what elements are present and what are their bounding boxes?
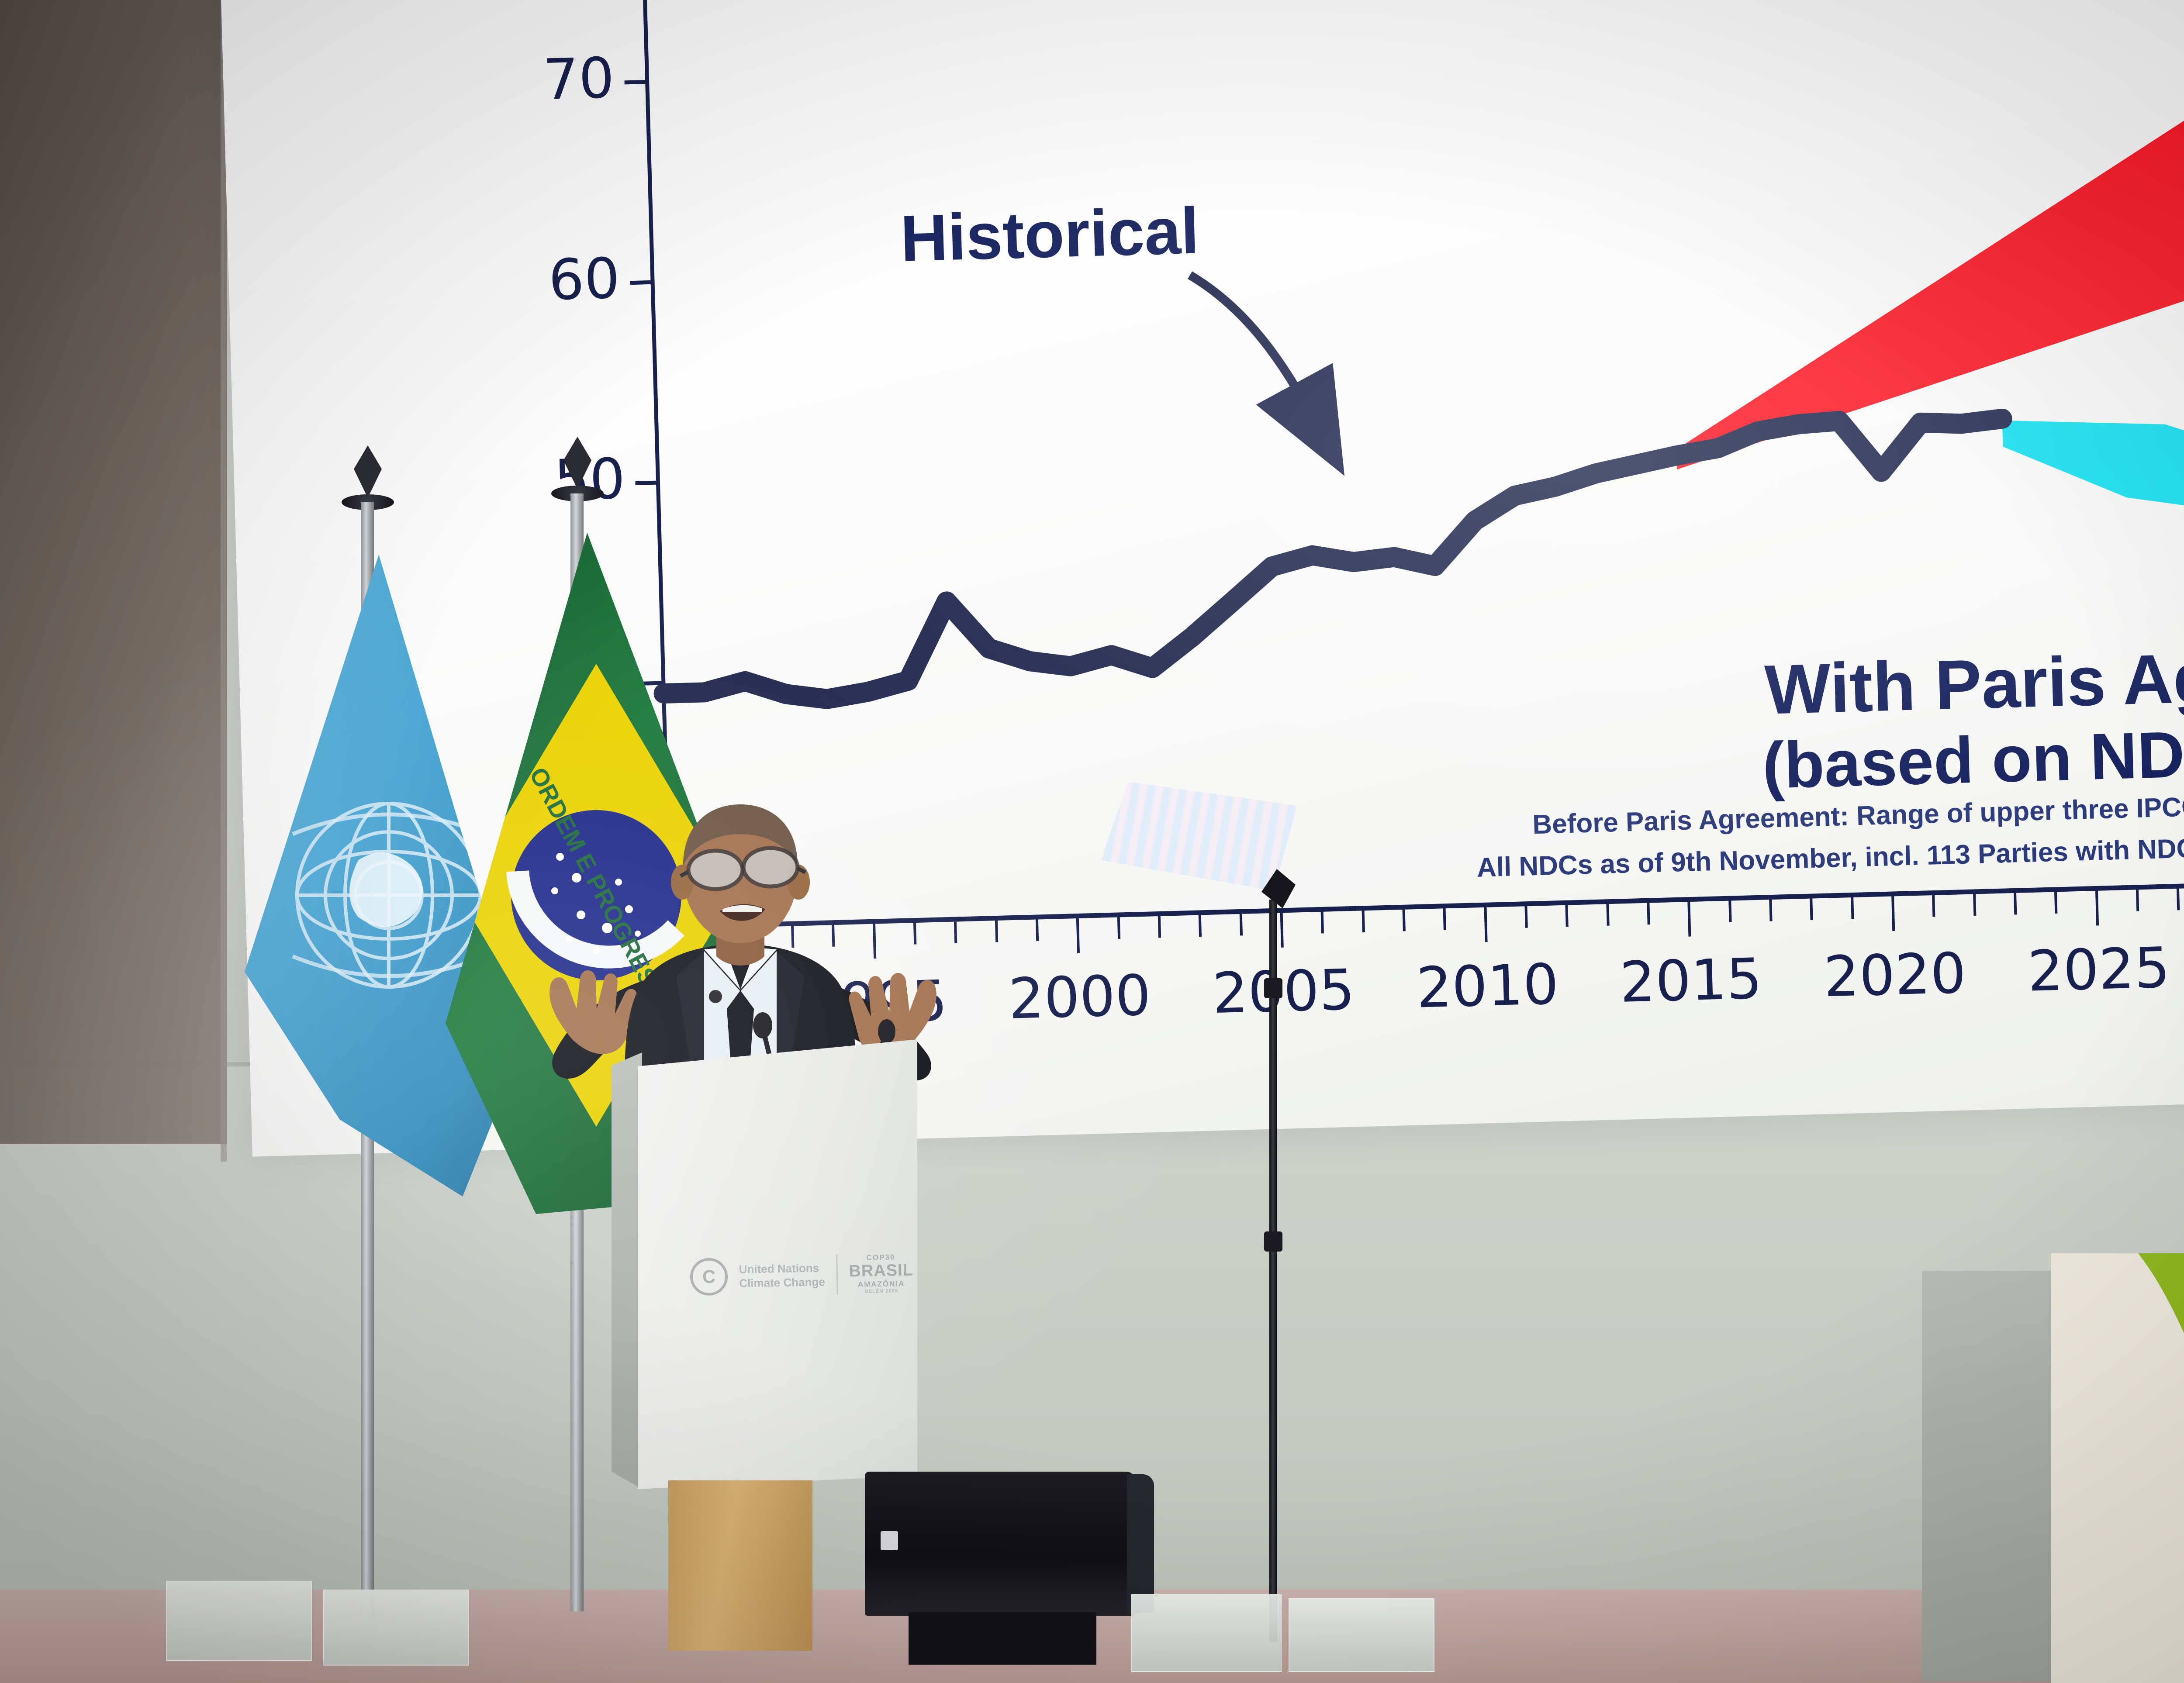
monitor-foot	[909, 1612, 1096, 1665]
monitor-side	[1127, 1474, 1154, 1613]
with-paris-label-line1: With Paris Agreement	[1764, 631, 2184, 729]
podium-logo-un-line1: United Nations	[739, 1261, 825, 1276]
y-tick-label-70: 70	[543, 46, 615, 113]
floor-mic-stand	[1258, 900, 1289, 1642]
flag-finial-icon	[354, 445, 382, 498]
x-tick-label-2000: 2000	[1008, 963, 1152, 1032]
podium-logo-amazonia: AMAZÔNIA	[849, 1279, 914, 1289]
floor-glass-block	[1131, 1594, 1282, 1672]
y-tick-label-60: 60	[548, 246, 621, 313]
podium-logo-belem: BELÉM 2025	[849, 1288, 914, 1294]
x-tick-label-2025: 2025	[2027, 935, 2171, 1004]
cop30-wordmark: COP30 BRASIL AMAZÔNIA BELÉM 2025	[849, 1253, 914, 1294]
desk-front-graphic	[2051, 1253, 2184, 1683]
stage-monitor-speaker	[865, 1472, 1171, 1659]
podium-logo-un-line2: Climate Change	[739, 1275, 825, 1290]
floor-glass-block	[323, 1590, 469, 1666]
historical-arrow	[1190, 272, 1324, 441]
x-tick-label-2015: 2015	[1619, 946, 1763, 1015]
before-paris-band	[1663, 0, 2184, 469]
flag-finial-icon	[563, 437, 591, 489]
podium-side-panel	[612, 1052, 642, 1489]
floor-glass-block	[166, 1581, 312, 1661]
x-tick-label-2010: 2010	[1416, 952, 1560, 1021]
mic-stand-joint	[1264, 978, 1282, 998]
desk-green-wave	[2051, 1253, 2184, 1683]
mic-stand-joint	[1264, 1231, 1282, 1252]
podium-wood-base	[668, 1480, 812, 1651]
monitor-brand-badge	[881, 1531, 898, 1550]
monitor-cabinet	[865, 1472, 1136, 1616]
desk-left-side	[1922, 1271, 2053, 1681]
historical-label: Historical	[899, 193, 1200, 275]
mic-stand-pole	[1269, 900, 1277, 1642]
unfccc-c-icon	[690, 1258, 728, 1296]
unfccc-wordmark: United Nations Climate Change	[739, 1261, 825, 1290]
left-shadowed-wall	[0, 0, 227, 1144]
podium-logo-divider	[836, 1255, 838, 1295]
panel-desk	[1922, 1253, 2184, 1683]
with-paris-band	[2002, 407, 2184, 561]
conference-stage-photo: 70 60 50 40 GHG emissions (including LUL…	[0, 0, 2184, 1683]
x-tick-label-2020: 2020	[1823, 941, 1967, 1010]
podium-logo-lockup: United Nations Climate Change COP30 BRAS…	[690, 1242, 918, 1307]
floor-glass-block	[1289, 1598, 1434, 1672]
podium-front-panel: United Nations Climate Change COP30 BRAS…	[638, 1039, 917, 1489]
podium-logo-brasil: BRASIL	[849, 1262, 913, 1281]
